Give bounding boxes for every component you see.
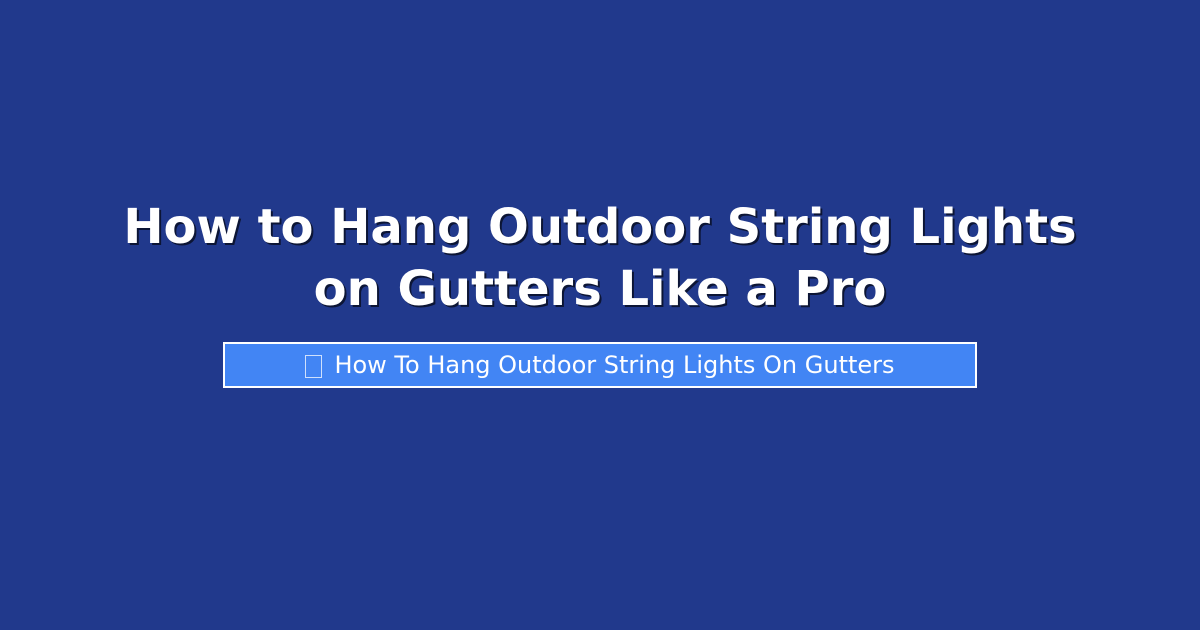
how-to-hang-outdoor-string-lights-on-gutters-button[interactable]: How To Hang Outdoor String Lights On Gut… <box>223 342 977 388</box>
card-content: How to Hang Outdoor String Lights on Gut… <box>0 196 1200 388</box>
page-title: How to Hang Outdoor String Lights on Gut… <box>95 196 1105 320</box>
missing-glyph-icon <box>305 355 322 378</box>
cta-container: How To Hang Outdoor String Lights On Gut… <box>0 342 1200 388</box>
social-preview-card: How to Hang Outdoor String Lights on Gut… <box>0 0 1200 630</box>
cta-button-label: How To Hang Outdoor String Lights On Gut… <box>334 353 894 377</box>
